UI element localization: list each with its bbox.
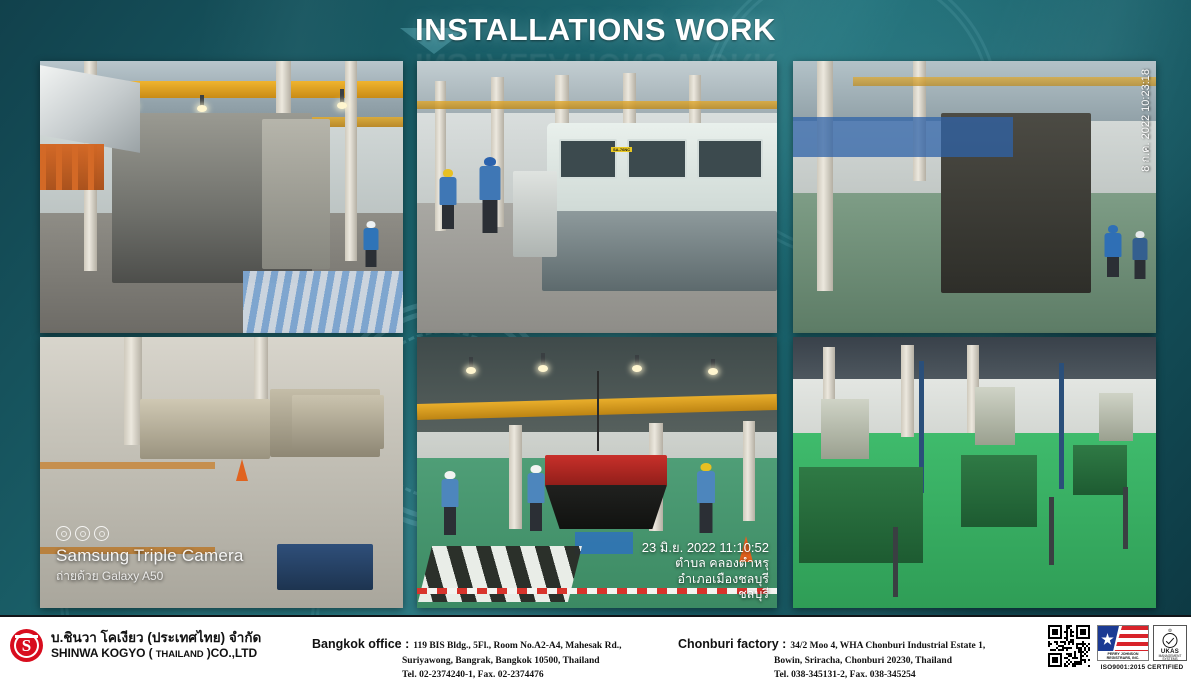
company-name-en-main: SHINWA KOGYO ( (51, 646, 156, 660)
qr-code-icon[interactable] (1048, 625, 1090, 667)
ukas-sublabel: MANAGEMENT SYSTEMS (1154, 655, 1186, 662)
bangkok-office-address: Bangkok office : 119 BIS Bldg., 5Fl., Ro… (312, 637, 621, 681)
photo-slitting-line[interactable]: Samsung Triple Camera ถ่ายด้วย Galaxy A5… (40, 337, 403, 608)
perry-johnson-registrars-icon: PERRY JOHNSON REGISTRARS, INC. (1097, 625, 1149, 661)
bangkok-address-line-1: 119 BIS Bldg., 5Fl., Room No.A2-A4, Mahe… (413, 639, 621, 654)
company-name-block: บ.ชินวา โคเงียว (ประเทศไทย) จำกัด SHINWA… (51, 630, 261, 662)
iso-certification-badge: PERRY JOHNSON REGISTRARS, INC. ♔ UKAS MA… (1097, 625, 1187, 671)
photo-hoisted-machine[interactable]: 8 ก.ค. 2022 10:23:18 (793, 61, 1156, 333)
shinwa-logo-icon: S (10, 629, 43, 662)
page-title: INSTALLATIONS WORK (0, 12, 1191, 48)
bangkok-address-line-3: Tel. 02-2374240-1, Fax. 02-2374476 (312, 668, 621, 681)
chonburi-factory-label: Chonburi factory : (678, 637, 786, 651)
machine-label: SA-76NC (611, 147, 632, 152)
ukas-accreditation-icon: ♔ UKAS MANAGEMENT SYSTEMS (1153, 625, 1187, 661)
company-name-thai: บ.ชินวา โคเงียว (ประเทศไทย) จำกัด (51, 630, 261, 647)
certification-block: PERRY JOHNSON REGISTRARS, INC. ♔ UKAS MA… (1048, 625, 1187, 671)
company-logo-block: S บ.ชินวา โคเงียว (ประเทศไทย) จำกัด SHIN… (10, 629, 261, 662)
photo-crane-lift[interactable]: 23 มิ.ย. 2022 11:10:52 ตำบล คลองตำหรุ อำ… (417, 337, 777, 608)
chonburi-address-line-2: Bowin, Sriracha, Chonburi 20230, Thailan… (678, 654, 985, 669)
chonburi-address-line-1: 34/2 Moo 4, WHA Chonburi Industrial Esta… (790, 639, 985, 654)
photo-grid: SA-76NC (40, 61, 1156, 608)
company-name-english: SHINWA KOGYO ( THAILAND )CO.,LTD (51, 646, 261, 661)
company-name-en-tail: )CO.,LTD (203, 646, 257, 660)
company-name-en-country: THAILAND (156, 649, 204, 660)
bangkok-office-label: Bangkok office : (312, 637, 409, 651)
photo-rolling-mill[interactable] (40, 61, 403, 333)
registrar-name: PERRY JOHNSON REGISTRARS, INC. (1098, 651, 1148, 660)
iso-caption: ISO9001:2015 CERTIFIED (1097, 664, 1187, 671)
logo-letter: S (10, 629, 43, 662)
slide-canvas: INSTALLATIONS WORK INSTALLATIONS WORK (0, 0, 1191, 681)
photo-green-machines[interactable] (793, 337, 1156, 608)
photo-sa76nc-machine[interactable]: SA-76NC (417, 61, 777, 333)
decorative-triangle-icon (400, 28, 468, 54)
chonburi-factory-address: Chonburi factory : 34/2 Moo 4, WHA Chonb… (678, 637, 985, 681)
footer-bar: S บ.ชินวา โคเงียว (ประเทศไทย) จำกัด SHIN… (0, 615, 1191, 681)
bangkok-address-line-2: Suriyawong, Bangrak, Bangkok 10500, Thai… (312, 654, 621, 669)
chonburi-address-line-3: Tel. 038-345131-2, Fax. 038-345254 (678, 668, 985, 681)
